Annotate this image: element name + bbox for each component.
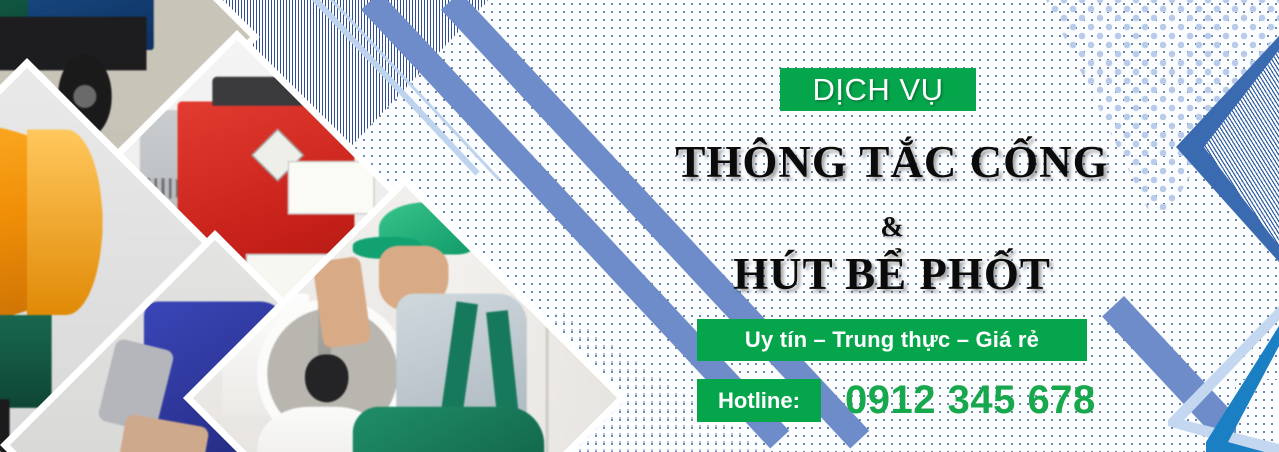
promotional-banner: DỊCH VỤ THÔNG TẮC CỐNG & HÚT BỂ PHỐT Uy … <box>0 0 1279 452</box>
photo-collage <box>0 0 520 452</box>
hotline-row: Hotline: 0912 345 678 <box>697 379 1117 422</box>
hotline-badge: Hotline: <box>697 379 821 422</box>
slogan-text: Uy tín – Trung thực – Giá rẻ <box>745 327 1039 353</box>
service-badge: DỊCH VỤ <box>780 68 976 111</box>
service-badge-label: DỊCH VỤ <box>813 74 944 105</box>
hotline-number[interactable]: 0912 345 678 <box>845 377 1096 423</box>
headline-ampersand: & <box>612 212 1172 244</box>
headline-secondary: HÚT BỂ PHỐT <box>612 252 1172 297</box>
hotline-label: Hotline: <box>718 388 800 414</box>
text-content-column: DỊCH VỤ THÔNG TẮC CỐNG & HÚT BỂ PHỐT Uy … <box>612 0 1172 452</box>
slogan-badge: Uy tín – Trung thực – Giá rẻ <box>697 319 1087 361</box>
headline-primary: THÔNG TẮC CỐNG <box>612 140 1172 185</box>
